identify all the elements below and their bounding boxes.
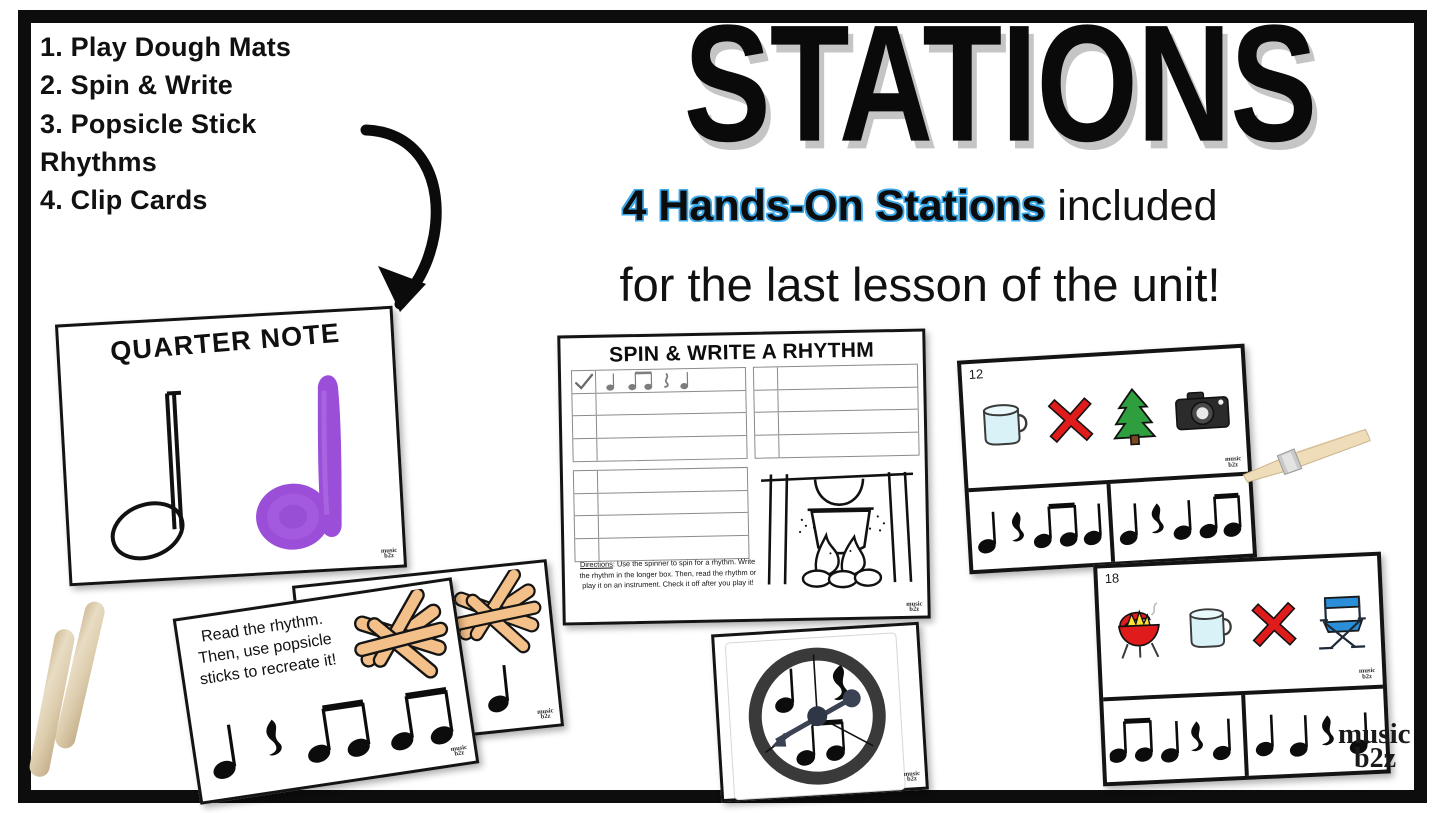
grid-row[interactable] <box>754 387 917 413</box>
grid-checkbox[interactable] <box>575 516 599 538</box>
grid-rhythm-cell[interactable] <box>597 435 746 460</box>
rhythm-notation <box>1108 707 1240 771</box>
grid-row[interactable] <box>574 490 747 516</box>
rhythm-option[interactable] <box>1110 475 1252 561</box>
grid-checkbox[interactable] <box>754 390 778 412</box>
pine-tree-icon <box>1108 386 1159 447</box>
brand-watermark: music b2z <box>904 771 921 783</box>
brand-watermark: music b2z <box>537 708 554 721</box>
grid-checkbox[interactable] <box>755 412 779 434</box>
grid-checkbox[interactable] <box>575 538 599 561</box>
grid-rhythm-cell[interactable] <box>778 387 917 411</box>
grid-rhythm-cell[interactable] <box>596 390 745 414</box>
grid-rhythm-cell[interactable] <box>779 410 918 434</box>
play-dough-mat-card[interactable]: QUARTER NOTE music b2z <box>55 306 407 586</box>
grid-checkbox[interactable] <box>754 367 778 389</box>
subtitle-rest: included <box>1045 182 1217 230</box>
grid-row[interactable] <box>573 413 746 439</box>
grid-checkbox[interactable] <box>573 416 597 438</box>
curved-down-left-arrow-icon <box>348 108 488 323</box>
brand-watermark: music b2z <box>906 601 922 613</box>
popsicle-card-text: Read the rhythm. Then, use popsicle stic… <box>185 608 345 692</box>
poster-headline: STATIONS <box>560 8 1440 126</box>
clip-card-rhythm-options <box>969 475 1253 570</box>
grid-checkbox[interactable] <box>573 438 597 461</box>
camera-icon <box>1173 389 1232 436</box>
grid-rhythm-cell[interactable] <box>598 468 747 492</box>
grid-checkbox[interactable] <box>572 371 596 393</box>
grid-rhythm-cell[interactable] <box>597 413 746 437</box>
directions-label: Directions <box>580 560 613 570</box>
camping-chair-icon <box>1312 593 1366 651</box>
clip-card[interactable]: 18 <box>1093 552 1391 787</box>
rhythm-grid-top-right[interactable] <box>753 364 920 459</box>
poster-canvas: 1. Play Dough Mats 2. Spin & Write 3. Po… <box>0 0 1445 813</box>
red-x-icon <box>1046 396 1095 445</box>
campfire-with-pot-image <box>753 460 925 593</box>
grid-rhythm-cell[interactable] <box>599 513 748 537</box>
grid-checkbox[interactable] <box>574 471 598 493</box>
clip-card-rhythm-options <box>1103 688 1386 782</box>
grill-icon <box>1113 601 1170 661</box>
grid-row[interactable] <box>754 365 917 391</box>
grid-row[interactable] <box>572 390 745 416</box>
station-list: 1. Play Dough Mats 2. Spin & Write 3. Po… <box>40 28 380 220</box>
rhythm-quarter-eighthpair-rest-quarter <box>600 368 720 392</box>
rhythm-spinner-card[interactable]: music b2z <box>711 622 929 802</box>
rhythm-notation <box>974 495 1105 558</box>
list-item: 3. Popsicle Stick Rhythms <box>40 105 380 182</box>
grid-rhythm-cell[interactable] <box>598 490 747 514</box>
clip-card-pictures <box>1097 556 1383 701</box>
spin-and-write-worksheet[interactable]: SPIN & WRITE A RHYTHM <box>557 328 930 625</box>
grid-rhythm-cell[interactable] <box>779 432 918 457</box>
rhythm-grid-top-left[interactable] <box>571 367 748 462</box>
grid-row[interactable] <box>755 410 918 436</box>
list-item: 1. Play Dough Mats <box>40 28 380 66</box>
grid-checkbox[interactable] <box>574 493 598 515</box>
mug-icon <box>978 398 1033 449</box>
mug-icon <box>1184 604 1236 652</box>
grid-rhythm-cell[interactable] <box>596 368 745 392</box>
popsicle-stick-pile-icon <box>343 585 459 691</box>
grid-row[interactable] <box>573 435 746 461</box>
grid-rhythm-cell[interactable] <box>778 365 917 389</box>
quarter-note-outline-icon <box>98 381 228 567</box>
clip-card[interactable]: 12 <box>957 344 1257 575</box>
brand-watermark: music b2z <box>450 744 468 758</box>
rhythm-option[interactable] <box>1245 688 1387 775</box>
rhythm-option[interactable] <box>1103 695 1249 783</box>
subtitle-line-2: for the last lesson of the unit! <box>420 260 1420 309</box>
grid-row[interactable] <box>755 432 918 458</box>
subtitle-highlight: 4 Hands-On Stations <box>622 182 1045 230</box>
grid-checkbox[interactable] <box>572 393 596 415</box>
clip-card-pictures <box>961 348 1248 492</box>
grid-row[interactable] <box>574 468 747 494</box>
grid-row[interactable] <box>575 513 748 539</box>
brand-watermark: music b2z <box>381 547 398 559</box>
brand-watermark: music b2z <box>1359 668 1376 680</box>
rhythm-spinner[interactable] <box>733 636 902 795</box>
subtitle-line-1: 4 Hands-On Stations included <box>420 184 1420 229</box>
list-item: 4. Clip Cards <box>40 181 380 219</box>
grid-row[interactable] <box>572 368 745 394</box>
red-x-icon <box>1250 601 1298 649</box>
rhythm-grid-bottom-left[interactable] <box>573 467 750 562</box>
rhythm-notation <box>1116 487 1247 550</box>
rhythm-notation <box>1251 700 1381 764</box>
list-item: 2. Spin & Write <box>40 66 380 104</box>
rhythm-option[interactable] <box>969 484 1115 571</box>
checkmark-icon <box>573 372 595 392</box>
headline-text: STATIONS <box>551 8 1445 161</box>
play-dough-quarter-note <box>239 362 390 570</box>
grid-checkbox[interactable] <box>755 435 779 458</box>
worksheet-directions: Directions: Use the spinner to spin for … <box>575 557 762 592</box>
